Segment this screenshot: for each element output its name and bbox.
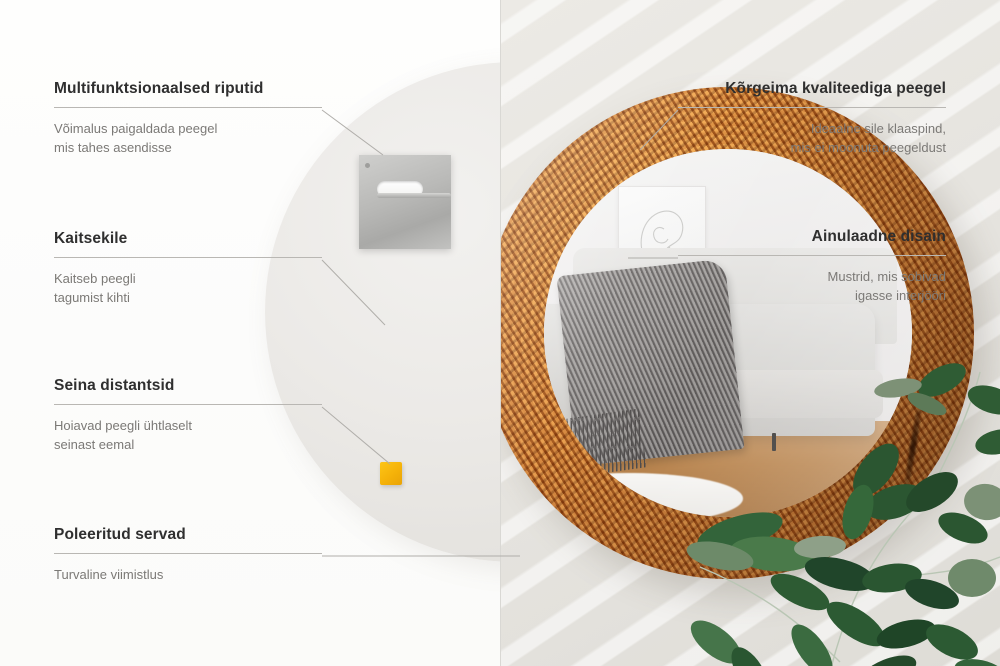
- infographic-canvas: Multifunktsionaalsed riputid Võimalus pa…: [0, 0, 1000, 666]
- callout-description: Ideaalne sile klaaspind, mis ei moonuta …: [678, 119, 946, 157]
- hanger-screw-hole: [365, 163, 370, 168]
- callout-rule: [54, 107, 322, 108]
- callout-description: Kaitseb peegli tagumist kihti: [54, 269, 322, 307]
- callout-rule: [678, 107, 946, 108]
- callout-polished-edges: Poleeritud servad Turvaline viimistlus: [54, 526, 322, 584]
- callout-hangers: Multifunktsionaalsed riputid Võimalus pa…: [54, 80, 322, 157]
- callout-rule: [54, 404, 322, 405]
- callout-rule: [678, 255, 946, 256]
- callout-title: Kõrgeima kvaliteediga peegel: [678, 80, 946, 98]
- callout-unique-design: Ainulaadne disain Mustrid, mis sobivad i…: [678, 228, 946, 305]
- callout-wall-spacers: Seina distantsid Hoiavad peegli ühtlasel…: [54, 377, 322, 454]
- callout-description: Hoiavad peegli ühtlaselt seinast eemal: [54, 416, 322, 454]
- decorative-plant-leaves: [680, 342, 1000, 666]
- callout-title: Kaitsekile: [54, 230, 322, 248]
- reflection-throw-fringe: [559, 409, 647, 479]
- callout-description: Võimalus paigaldada peegel mis tahes ase…: [54, 119, 322, 157]
- callout-protective-foil: Kaitsekile Kaitseb peegli tagumist kihti: [54, 230, 322, 307]
- callout-description: Mustrid, mis sobivad igasse interjööri: [678, 267, 946, 305]
- callout-title: Poleeritud servad: [54, 526, 322, 544]
- mirror-hanger-detail: [359, 155, 451, 249]
- callout-rule: [54, 553, 322, 554]
- callout-rule: [54, 257, 322, 258]
- hanger-bracket-bar: [377, 193, 451, 198]
- callout-quality-mirror: Kõrgeima kvaliteediga peegel Ideaalne si…: [678, 80, 946, 157]
- callout-description: Turvaline viimistlus: [54, 565, 322, 584]
- callout-title: Seina distantsid: [54, 377, 322, 395]
- callout-title: Multifunktsionaalsed riputid: [54, 80, 322, 98]
- panel-divider: [500, 0, 501, 666]
- callout-title: Ainulaadne disain: [678, 228, 946, 246]
- wall-spacer-detail: [380, 462, 402, 485]
